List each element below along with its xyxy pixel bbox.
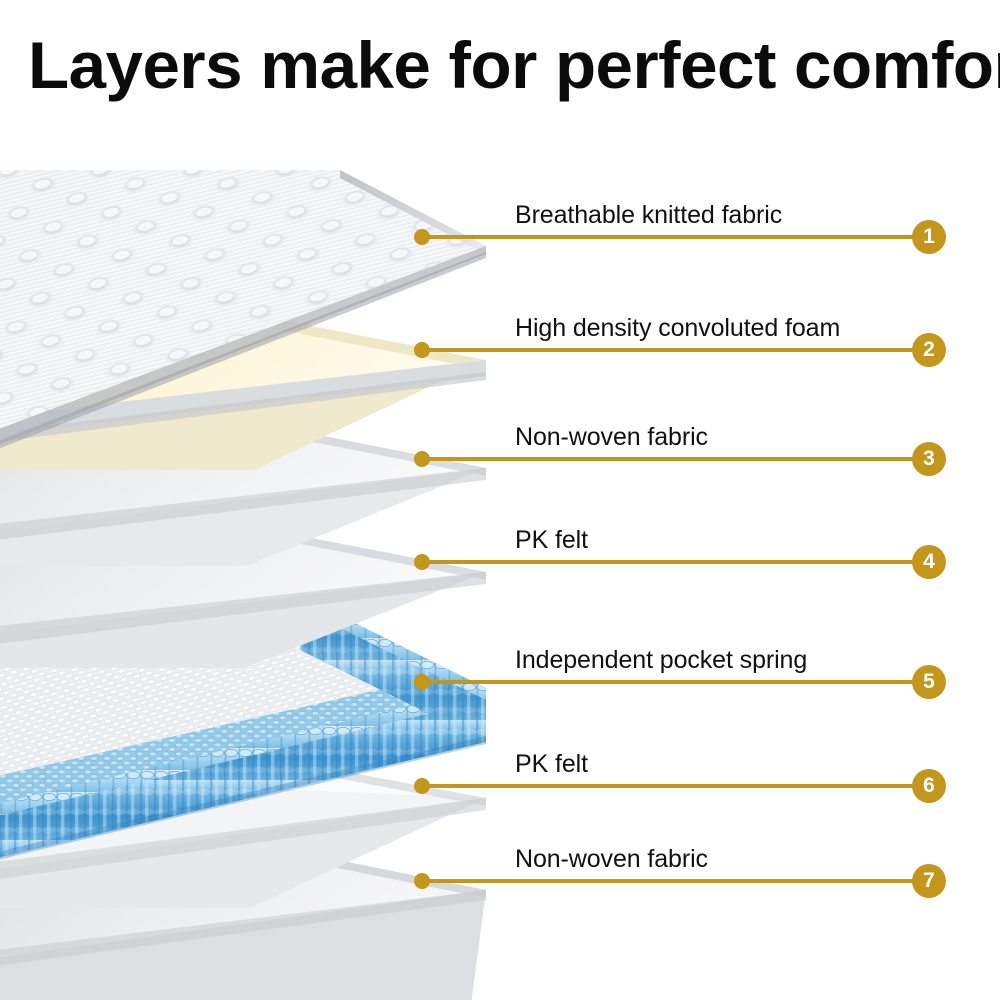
layer-label-4: PK felt: [515, 526, 588, 554]
leader-line-4: [424, 560, 919, 564]
leader-line-7: [424, 879, 919, 883]
layer-number-1: 1: [912, 220, 946, 254]
layer-label-6: PK felt: [515, 750, 588, 778]
layer-number-5: 5: [912, 665, 946, 699]
layer-label-7: Non-woven fabric: [515, 845, 708, 873]
layer-number-7: 7: [912, 864, 946, 898]
layer-number-4: 4: [912, 545, 946, 579]
layer-label-3: Non-woven fabric: [515, 423, 708, 451]
leader-line-3: [424, 457, 919, 461]
mattress-exploded-illustration: [0, 0, 1000, 1000]
layer-label-2: High density convoluted foam: [515, 314, 840, 342]
layer-number-6: 6: [912, 769, 946, 803]
layer-number-2: 2: [912, 333, 946, 367]
layer-label-1: Breathable knitted fabric: [515, 201, 782, 229]
leader-line-1: [424, 235, 919, 239]
mattress-layers-infographic: Layers make for perfect comfort: [0, 0, 1000, 1000]
layer-number-3: 3: [912, 442, 946, 476]
layer-label-5: Independent pocket spring: [515, 646, 807, 674]
leader-line-2: [424, 348, 919, 352]
leader-line-6: [424, 784, 919, 788]
leader-line-5: [424, 680, 919, 684]
